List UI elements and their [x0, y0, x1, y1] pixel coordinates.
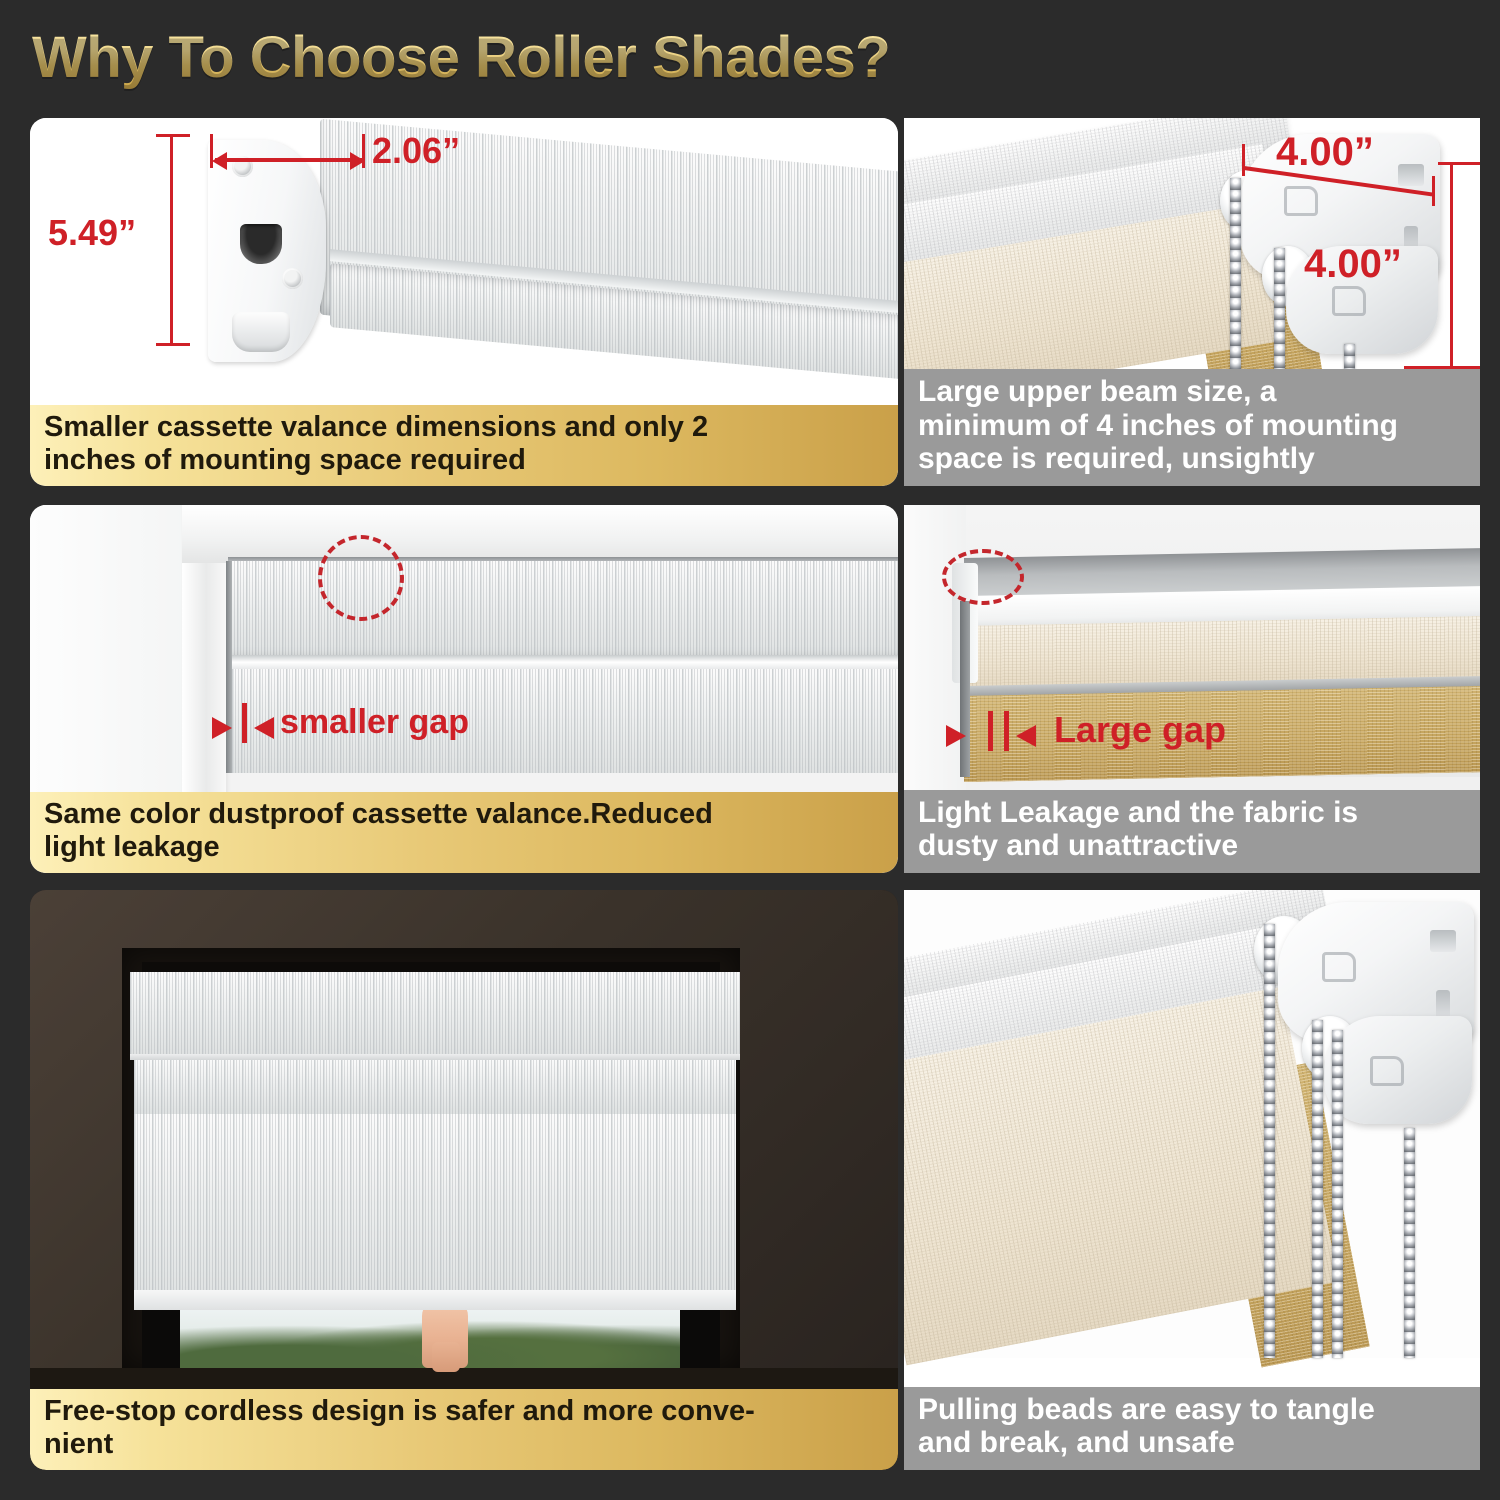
bracket-notch [1430, 930, 1456, 952]
beam-width-label: 4.00” [1276, 130, 1374, 175]
panel-4-caption-line-1: Light Leakage and the fabric is [918, 796, 1358, 830]
beam-width-tick-left [1242, 144, 1245, 176]
large-gap-label: Large gap [1054, 709, 1226, 751]
mounting-bracket-lower [1324, 1016, 1472, 1124]
gap-arrow-left-icon [1016, 725, 1036, 747]
infographic-root: Why To Choose Roller Shades? 2.06” [0, 0, 1500, 1500]
height-dim-tick-top [156, 134, 190, 137]
gap-highlight-circle-icon [318, 535, 404, 621]
panel-1-caption: Smaller cassette valance dimensions and … [30, 405, 898, 486]
width-dim-tick-right [362, 134, 365, 168]
height-dim-tick-bottom [156, 343, 190, 346]
panel-2-caption-line-2: minimum of 4 inches of mounting [918, 409, 1398, 443]
end-cap-slot-icon [240, 224, 282, 264]
panel-2-caption-line-1: Large upper beam size, a [918, 375, 1398, 409]
bracket-notch [1398, 164, 1424, 186]
gap-arrow-right-icon [212, 717, 232, 739]
window-frame-left-edge [142, 1308, 180, 1368]
gap-arrow-left-icon [254, 717, 274, 739]
smaller-gap-label: smaller gap [280, 703, 469, 742]
gap-tick [1004, 711, 1009, 751]
panel-2-caption-line-3: space is required, unsightly [918, 442, 1398, 476]
window-frame-right-edge [680, 1308, 720, 1368]
panel-6-caption-line-2: and break, and unsafe [918, 1426, 1375, 1460]
beam-height-dim-line [1450, 162, 1453, 368]
page-title: Why To Choose Roller Shades? [32, 24, 890, 91]
valance-lower-band [134, 1058, 736, 1114]
bead-chain [1404, 1128, 1415, 1358]
end-cap-bracket [232, 312, 290, 352]
panel-pulling-beads: Pulling beads are easy to tangle and bre… [904, 890, 1480, 1470]
panel-2-caption: Large upper beam size, a minimum of 4 in… [904, 369, 1480, 486]
bracket-emboss-icon [1284, 186, 1318, 216]
cassette-valance [130, 972, 740, 1054]
window-head-trim [182, 505, 898, 563]
bead-chain [1332, 1030, 1343, 1358]
width-dim-arrow-left-icon [212, 152, 227, 170]
roller-shade-fabric [134, 1112, 736, 1298]
end-cap-screw-icon [282, 268, 303, 289]
panel-large-upper-beam: 4.00” 4.00” Large upper beam size, a min… [904, 118, 1480, 486]
bracket-emboss-icon [1332, 286, 1366, 316]
panel-5-photo [30, 890, 898, 1368]
panel-3-caption-line-2: light leakage [44, 831, 713, 863]
gap-edge-bar [960, 601, 970, 777]
width-dim-tick-left [210, 134, 213, 168]
gap-edge-bar [226, 561, 232, 773]
wrist-illustration [432, 1342, 460, 1372]
panel-5-caption-line-2: nient [44, 1428, 755, 1460]
shade-bottom-bar [134, 1290, 736, 1310]
bracket-emboss-icon [1370, 1056, 1404, 1086]
panel-1-caption-line-2: inches of mounting space required [44, 444, 708, 476]
panel-6-photo [904, 890, 1480, 1358]
gap-tick [988, 711, 993, 751]
panel-1-photo: 2.06” 5.49” [30, 118, 898, 386]
panel-4-caption-line-2: dusty and unattractive [918, 829, 1358, 863]
gap-tick [242, 703, 247, 743]
panel-dustproof-valance: smaller gap Same color dustproof cassett… [30, 505, 898, 873]
panel-cordless-design: Free-stop cordless design is safer and m… [30, 890, 898, 1470]
bead-chain [1312, 1020, 1323, 1358]
panel-smaller-cassette: 2.06” 5.49” Smaller cassette valance dim… [30, 118, 898, 486]
panel-1-caption-line-1: Smaller cassette valance dimensions and … [44, 411, 708, 443]
panel-5-caption: Free-stop cordless design is safer and m… [30, 1389, 898, 1470]
bead-chain [1230, 178, 1241, 390]
width-dimension-label: 2.06” [372, 130, 460, 172]
beam-height-tick-top [1438, 162, 1480, 165]
panel-5-caption-line-1: Free-stop cordless design is safer and m… [44, 1395, 755, 1427]
panel-6-caption-line-1: Pulling beads are easy to tangle [918, 1393, 1375, 1427]
beam-width-tick-right [1432, 176, 1435, 206]
panel-3-photo: smaller gap [30, 505, 898, 773]
panel-4-photo: Large gap [904, 505, 1480, 777]
height-dimension-label: 5.49” [48, 212, 136, 254]
cassette-end-cap [208, 140, 326, 362]
width-dim-line [215, 158, 363, 162]
panel-light-leakage: Large gap Light Leakage and the fabric i… [904, 505, 1480, 873]
panel-3-caption-line-1: Same color dustproof cassette valance.Re… [44, 798, 713, 830]
height-dim-line [170, 134, 173, 346]
panel-4-caption: Light Leakage and the fabric is dusty an… [904, 790, 1480, 873]
bracket-emboss-icon [1322, 952, 1356, 982]
gap-arrow-right-icon [946, 725, 966, 747]
panel-6-caption: Pulling beads are easy to tangle and bre… [904, 1387, 1480, 1470]
panel-2-photo: 4.00” 4.00” [904, 118, 1480, 390]
beam-height-label: 4.00” [1304, 242, 1402, 287]
panel-3-caption: Same color dustproof cassette valance.Re… [30, 792, 898, 873]
gap-highlight-circle-icon [942, 549, 1024, 605]
bead-chain [1264, 924, 1275, 1358]
